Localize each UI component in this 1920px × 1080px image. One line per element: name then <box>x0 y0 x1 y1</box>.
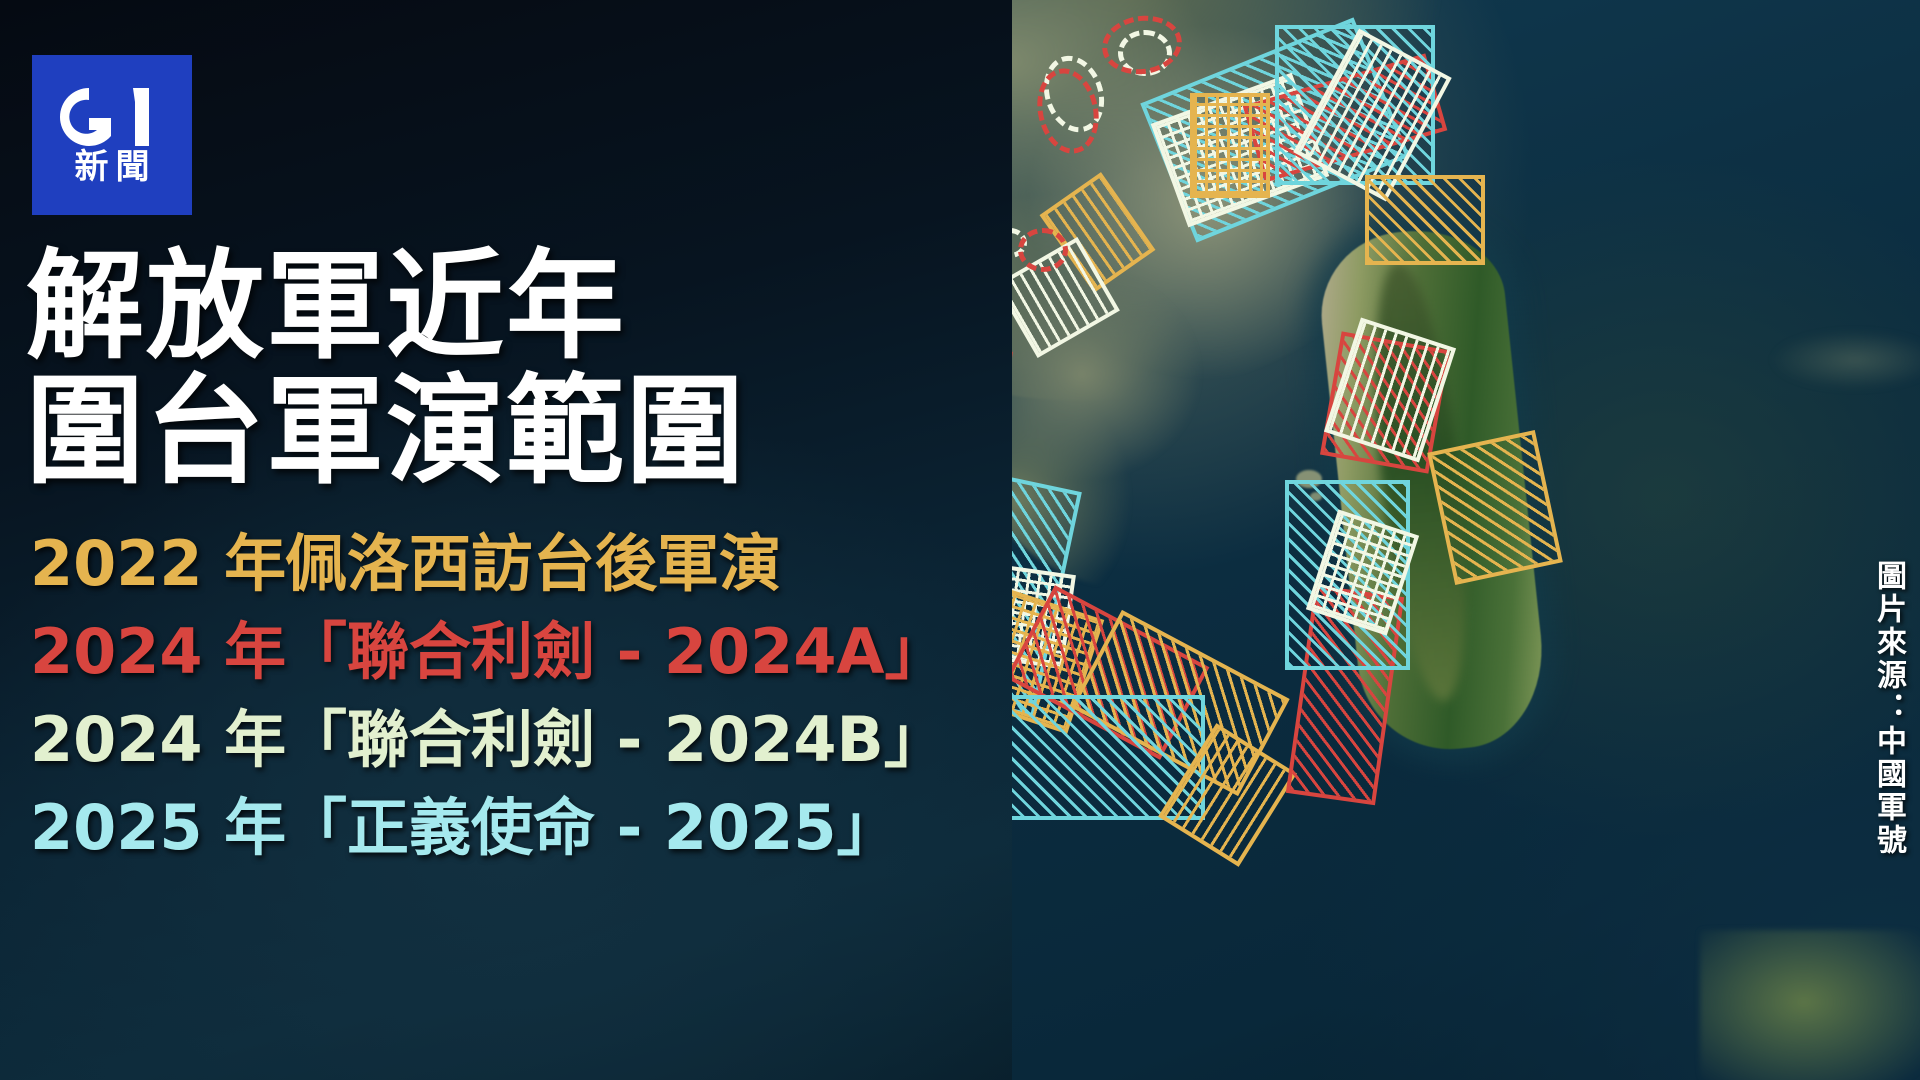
luzon-landmass <box>1700 930 1920 1080</box>
page-title-line-2: 圍台軍演範圍 <box>26 369 986 494</box>
legend-row: 2022 年佩洛西訪台後軍演 <box>30 520 990 608</box>
legend-row: 2025 年「正義使命 - 2025」 <box>30 784 990 872</box>
infographic-canvas: 新聞 解放軍近年 圍台軍演範圍 2022 年佩洛西訪台後軍演2024 年「聯合利… <box>0 0 1920 1080</box>
legend-year: 2024 年 <box>30 608 285 696</box>
legend-year: 2025 年 <box>30 784 285 872</box>
page-title: 解放軍近年 圍台軍演範圍 <box>26 244 986 494</box>
page-title-line-1: 解放軍近年 <box>26 244 986 369</box>
legend-operation-name: 「聯合利劍 - 2024B」 <box>285 696 946 784</box>
taiwan-strait-map <box>1010 0 1920 1080</box>
exercise-zone <box>1365 175 1485 265</box>
legend-operation-name: 佩洛西訪台後軍演 <box>285 520 781 608</box>
image-source-credit: 圖片來源：中國軍號 <box>1866 560 1910 857</box>
legend-year: 2024 年 <box>30 696 285 784</box>
logo-wordmark: 新聞 <box>68 150 157 184</box>
legend: 2022 年佩洛西訪台後軍演2024 年「聯合利劍 - 2024A」2024 年… <box>30 520 990 872</box>
hk01-logo: 新聞 <box>32 55 192 215</box>
legend-operation-name: 「聯合利劍 - 2024A」 <box>285 608 946 696</box>
legend-year: 2022 年 <box>30 520 285 608</box>
logo-01-mark <box>59 86 165 148</box>
dashed-circle-marker <box>1018 228 1068 272</box>
legend-row: 2024 年「聯合利劍 - 2024A」 <box>30 608 990 696</box>
title-panel: 新聞 解放軍近年 圍台軍演範圍 2022 年佩洛西訪台後軍演2024 年「聯合利… <box>0 0 1012 1080</box>
legend-row: 2024 年「聯合利劍 - 2024B」 <box>30 696 990 784</box>
exercise-zone <box>1190 93 1270 198</box>
ryukyu-islands <box>1770 330 1920 390</box>
legend-operation-name: 「正義使命 - 2025」 <box>285 784 898 872</box>
